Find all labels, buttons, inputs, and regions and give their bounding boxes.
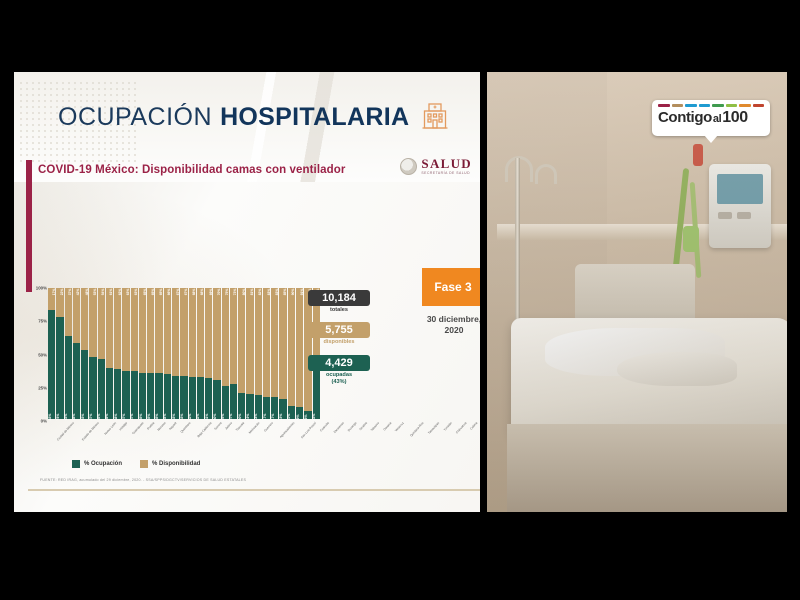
callout-value: 5,755 bbox=[308, 322, 370, 338]
logo-dash bbox=[658, 104, 670, 107]
bar-segment-ocupacion: 34% bbox=[164, 374, 171, 419]
table-row: 70%30% bbox=[213, 288, 220, 419]
bar-value-label: 81% bbox=[250, 289, 254, 296]
bar-value-label: 80% bbox=[242, 289, 246, 296]
bar-segment-disponibilidad: 69% bbox=[205, 288, 212, 378]
slide-header: OCUPACIÓN HOSPITALARIA bbox=[14, 86, 480, 148]
bar-value-label: 70% bbox=[217, 289, 221, 296]
page-title-bold: HOSPITALARIA bbox=[220, 103, 409, 132]
bar-value-label: 61% bbox=[109, 289, 113, 296]
bar-value-label: 22% bbox=[60, 289, 64, 296]
bar-segment-ocupacion: 35% bbox=[139, 373, 146, 419]
bar-segment-ocupacion: 78% bbox=[56, 317, 63, 419]
bar-segment-ocupacion: 17% bbox=[263, 397, 270, 419]
legend-label-disponibilidad: % Disponibilidad bbox=[152, 461, 200, 467]
table-row: 69%31% bbox=[205, 288, 212, 419]
bar-value-label: 65% bbox=[143, 289, 147, 296]
bar-segment-disponibilidad: 54% bbox=[98, 288, 105, 359]
bar-value-label: 48% bbox=[85, 289, 89, 296]
y-axis: 0%25%50%75%100% bbox=[28, 286, 48, 421]
table-row: 90%10% bbox=[288, 288, 295, 419]
table-row: 80%20% bbox=[238, 288, 245, 419]
bar-value-label: 75% bbox=[225, 289, 229, 296]
table-row: 66%34% bbox=[164, 288, 171, 419]
bar-segment-ocupacion: 37% bbox=[122, 371, 129, 419]
logo-dash bbox=[699, 104, 711, 107]
bar-segment-disponibilidad: 85% bbox=[279, 288, 286, 399]
bar-segment-ocupacion: 58% bbox=[73, 343, 80, 419]
bar-segment-disponibilidad: 82% bbox=[255, 288, 262, 395]
hospital-building-icon bbox=[418, 99, 452, 138]
bar-segment-ocupacion: 33% bbox=[172, 376, 179, 419]
logo-word-al: al bbox=[713, 114, 721, 125]
legend-label-ocupacion: % Ocupación bbox=[84, 461, 122, 467]
y-axis-tick: 0% bbox=[41, 419, 47, 424]
logo-word-contigo: Contigo bbox=[658, 110, 712, 125]
chart-plot-area: 17%83%22%78%37%63%42%58%48%53%53%47%54%4… bbox=[48, 288, 320, 419]
bar-segment-ocupacion: 35% bbox=[155, 373, 162, 419]
bar-segment-ocupacion: 31% bbox=[205, 378, 212, 419]
callout-label: disponibles bbox=[308, 339, 370, 346]
table-row: 17%83% bbox=[48, 288, 55, 419]
bar-value-label: 68% bbox=[200, 289, 204, 296]
logo-dash bbox=[685, 104, 697, 107]
bar-segment-ocupacion: 53% bbox=[81, 350, 88, 419]
bar-segment-ocupacion: 9% bbox=[296, 407, 303, 419]
bar-segment-disponibilidad: 61% bbox=[106, 288, 113, 368]
bar-segment-ocupacion: 30% bbox=[213, 380, 220, 419]
mexican-eagle-seal-icon bbox=[400, 158, 417, 175]
bar-segment-ocupacion: 27% bbox=[230, 384, 237, 419]
table-row: 61%39% bbox=[106, 288, 113, 419]
table-row: 53%47% bbox=[89, 288, 96, 419]
bar-segment-ocupacion: 33% bbox=[180, 376, 187, 419]
bar-value-label: 65% bbox=[151, 289, 155, 296]
table-row: 73%27% bbox=[230, 288, 237, 419]
logo-dash bbox=[753, 104, 765, 107]
bar-segment-ocupacion: 38% bbox=[114, 369, 121, 419]
contigo-al-100-logo: Contigo al 100 bbox=[652, 100, 770, 136]
callout-value: 4,429 bbox=[308, 355, 370, 371]
bar-value-label: 42% bbox=[76, 289, 80, 296]
table-row: 42%58% bbox=[73, 288, 80, 419]
bar-segment-disponibilidad: 22% bbox=[56, 288, 63, 317]
bar-segment-ocupacion: 32% bbox=[197, 377, 204, 419]
logo-dash bbox=[672, 104, 684, 107]
bar-segment-disponibilidad: 37% bbox=[65, 288, 72, 336]
source-note: FUENTE: RED IRAG, acumulado del 29 dicie… bbox=[40, 478, 460, 482]
bar-segment-ocupacion: 20% bbox=[238, 393, 245, 419]
y-axis-tick: 75% bbox=[38, 319, 47, 324]
table-row: 68%32% bbox=[197, 288, 204, 419]
bar-segment-disponibilidad: 73% bbox=[230, 288, 237, 384]
bar-segment-disponibilidad: 48% bbox=[81, 288, 88, 350]
bar-value-label: 91% bbox=[300, 289, 304, 296]
stacked-bar-chart: 0%25%50%75%100% 17%83%22%78%37%63%42%58%… bbox=[28, 286, 338, 446]
table-row: 22%78% bbox=[56, 288, 63, 419]
bar-value-label: 67% bbox=[184, 289, 188, 296]
callout-value: 10,184 bbox=[308, 290, 370, 306]
bar-segment-ocupacion: 83% bbox=[48, 310, 55, 419]
bar-segment-ocupacion: 25% bbox=[222, 386, 229, 419]
callout-label: ocupadas(43%) bbox=[308, 372, 370, 386]
bar-value-label: 83% bbox=[267, 289, 271, 296]
logo-dash-row bbox=[658, 104, 764, 107]
bar-segment-disponibilidad: 63% bbox=[131, 288, 138, 371]
bar-value-label: 66% bbox=[167, 289, 171, 296]
bar-segment-ocupacion: 35% bbox=[147, 373, 154, 419]
logo-dash bbox=[739, 104, 751, 107]
table-row: 65%35% bbox=[155, 288, 162, 419]
logo-word-100: 100 bbox=[722, 110, 748, 126]
bar-segment-disponibilidad: 68% bbox=[197, 288, 204, 377]
bar-segment-disponibilidad: 80% bbox=[238, 288, 245, 393]
bar-segment-disponibilidad: 65% bbox=[139, 288, 146, 373]
bar-segment-disponibilidad: 17% bbox=[48, 288, 55, 310]
bar-segment-disponibilidad: 90% bbox=[288, 288, 295, 406]
bar-segment-disponibilidad: 63% bbox=[122, 288, 129, 371]
bar-segment-ocupacion: 10% bbox=[288, 406, 295, 419]
summary-callout: 4,429ocupadas(43%) bbox=[308, 355, 370, 386]
bar-segment-ocupacion: 6% bbox=[304, 411, 311, 419]
bar-segment-disponibilidad: 65% bbox=[147, 288, 154, 373]
bar-value-label: 17% bbox=[52, 289, 56, 296]
bar-value-label: 53% bbox=[93, 289, 97, 296]
table-row: 68%32% bbox=[189, 288, 196, 419]
phase-badge: Fase 3 bbox=[422, 268, 480, 306]
page-title-light: OCUPACIÓN bbox=[58, 103, 212, 132]
bar-segment-disponibilidad: 66% bbox=[164, 288, 171, 374]
table-row: 62%38% bbox=[114, 288, 121, 419]
summary-callout: 10,184totales bbox=[308, 290, 370, 314]
table-row: 37%63% bbox=[65, 288, 72, 419]
bar-value-label: 68% bbox=[192, 289, 196, 296]
phase-label: Fase 3 bbox=[434, 280, 471, 294]
bar-segment-ocupacion: 32% bbox=[189, 377, 196, 419]
bar-value-label: 67% bbox=[176, 289, 180, 296]
bar-segment-disponibilidad: 75% bbox=[222, 288, 229, 386]
bar-segment-disponibilidad: 53% bbox=[89, 288, 96, 357]
bar-segment-ocupacion: 19% bbox=[246, 394, 253, 419]
table-row: 83%17% bbox=[271, 288, 278, 419]
bar-segment-disponibilidad: 91% bbox=[296, 288, 303, 407]
bar-value-label: 65% bbox=[159, 289, 163, 296]
bar-segment-disponibilidad: 83% bbox=[263, 288, 270, 397]
y-axis-tick: 50% bbox=[38, 352, 47, 357]
table-row: 82%18% bbox=[255, 288, 262, 419]
bar-segment-ocupacion: 47% bbox=[89, 357, 96, 419]
bar-segment-ocupacion: 39% bbox=[106, 368, 113, 419]
legend-swatch-disponibilidad bbox=[140, 460, 148, 468]
bar-value-label: 6% bbox=[304, 415, 308, 420]
logo-dash bbox=[726, 104, 738, 107]
bar-value-label: 83% bbox=[275, 289, 279, 296]
bar-value-label: 9% bbox=[296, 415, 300, 420]
bar-segment-disponibilidad: 65% bbox=[155, 288, 162, 373]
bar-segment-disponibilidad: 42% bbox=[73, 288, 80, 343]
bar-segment-ocupacion: 18% bbox=[255, 395, 262, 419]
bar-segment-disponibilidad: 68% bbox=[189, 288, 196, 377]
legend-swatch-ocupacion bbox=[72, 460, 80, 468]
bar-segment-ocupacion: 37% bbox=[131, 371, 138, 419]
table-row: 67%33% bbox=[180, 288, 187, 419]
table-row: 54%46% bbox=[98, 288, 105, 419]
slide-bottom-rule bbox=[28, 489, 480, 491]
bar-segment-disponibilidad: 81% bbox=[246, 288, 253, 394]
bar-segment-ocupacion: 46% bbox=[98, 359, 105, 419]
legend-item-ocupacion: % Ocupación bbox=[72, 460, 122, 468]
bar-segment-disponibilidad: 70% bbox=[213, 288, 220, 380]
bar-segment-ocupacion: 17% bbox=[271, 397, 278, 419]
presentation-slide: OCUPACIÓN HOSPITALARIA bbox=[14, 72, 480, 512]
bar-value-label: 63% bbox=[126, 289, 130, 296]
hospital-room-photo: Contigo al 100 bbox=[487, 72, 787, 512]
table-row: 83%17% bbox=[263, 288, 270, 419]
table-row: 67%33% bbox=[172, 288, 179, 419]
salud-logo: SALUD SECRETARÍA DE SALUD bbox=[400, 157, 472, 175]
chart-legend: % Ocupación % Disponibilidad bbox=[72, 460, 200, 468]
bar-segment-disponibilidad: 62% bbox=[114, 288, 121, 369]
summary-callout: 5,755disponibles bbox=[308, 322, 370, 346]
table-row: 63%37% bbox=[131, 288, 138, 419]
table-row: 48%53% bbox=[81, 288, 88, 419]
bar-segment-ocupacion: 15% bbox=[279, 399, 286, 419]
chart-title: COVID-19 México: Disponibilidad camas co… bbox=[38, 164, 345, 176]
broadcast-screen: OCUPACIÓN HOSPITALARIA bbox=[0, 0, 800, 600]
bar-value-label: 69% bbox=[209, 289, 213, 296]
table-row: 85%15% bbox=[279, 288, 286, 419]
salud-wordmark: SALUD bbox=[421, 157, 472, 170]
callout-label: totales bbox=[308, 307, 370, 314]
table-row: 91%9% bbox=[296, 288, 303, 419]
bar-value-label: 73% bbox=[233, 289, 237, 296]
bar-value-label: 90% bbox=[291, 289, 295, 296]
content-band: OCUPACIÓN HOSPITALARIA bbox=[0, 72, 800, 512]
bar-value-label: 62% bbox=[118, 289, 122, 296]
bar-value-label: 82% bbox=[258, 289, 262, 296]
table-row: 81%19% bbox=[246, 288, 253, 419]
photo-gradient-overlay bbox=[487, 72, 787, 512]
table-row: 65%35% bbox=[147, 288, 154, 419]
table-row: 63%37% bbox=[122, 288, 129, 419]
bar-segment-disponibilidad: 67% bbox=[172, 288, 179, 376]
bar-segment-disponibilidad: 67% bbox=[180, 288, 187, 376]
bar-value-label: 54% bbox=[101, 289, 105, 296]
salud-subtitle: SECRETARÍA DE SALUD bbox=[421, 172, 472, 175]
bar-segment-disponibilidad: 83% bbox=[271, 288, 278, 397]
title-accent-bar bbox=[26, 160, 32, 292]
phase-date: 30 diciembre,2020 bbox=[412, 314, 480, 337]
y-axis-tick: 25% bbox=[38, 385, 47, 390]
y-axis-tick: 100% bbox=[36, 286, 47, 291]
bar-segment-ocupacion: 63% bbox=[65, 336, 72, 419]
table-row: 75%25% bbox=[222, 288, 229, 419]
bar-value-label: 63% bbox=[134, 289, 138, 296]
table-row: 65%35% bbox=[139, 288, 146, 419]
x-axis: Ciudad de MéxicoEstado de MéxicoNuevo Le… bbox=[48, 420, 320, 450]
logo-dash bbox=[712, 104, 724, 107]
bar-value-label: 37% bbox=[68, 289, 72, 296]
bar-value-label: 85% bbox=[283, 289, 287, 296]
logo-text: Contigo al 100 bbox=[658, 110, 764, 126]
legend-item-disponibilidad: % Disponibilidad bbox=[140, 460, 200, 468]
